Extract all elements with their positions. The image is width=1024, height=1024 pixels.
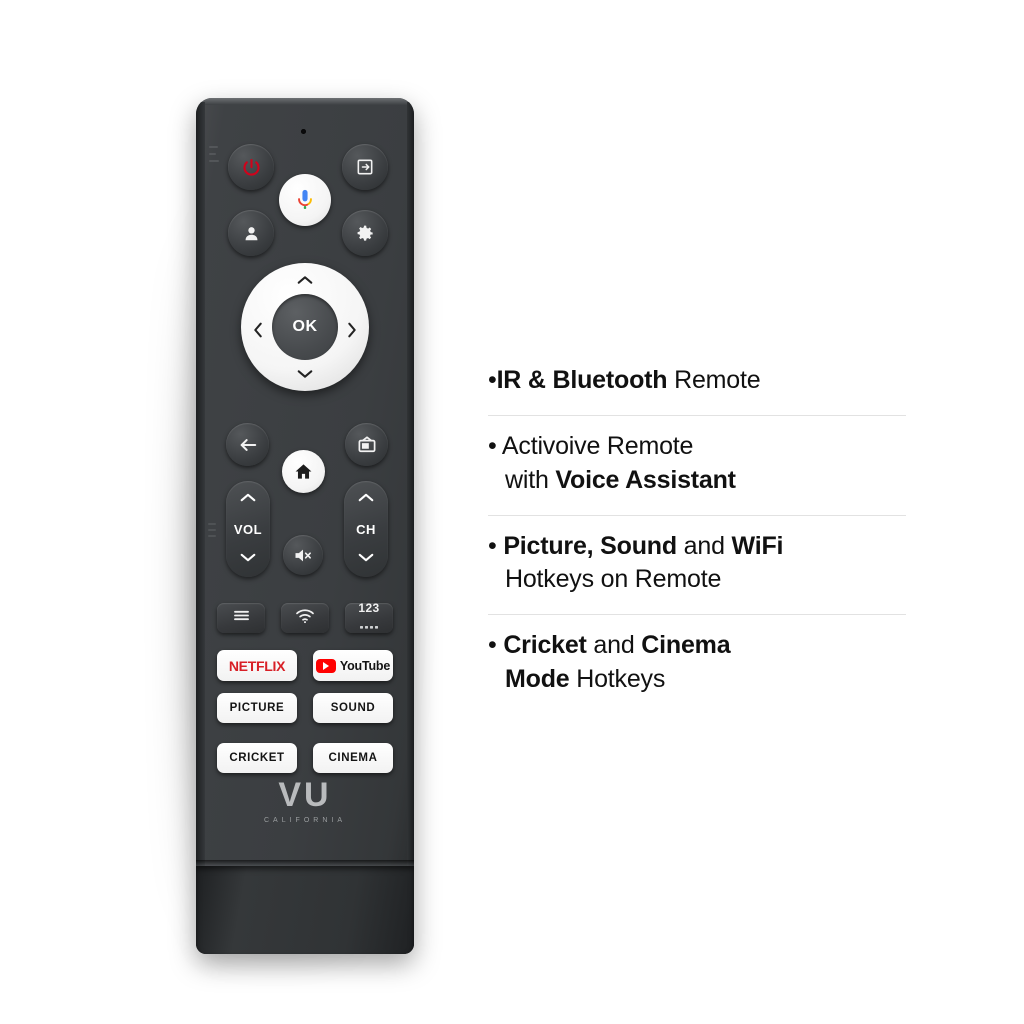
product-image-canvas: OK xyxy=(0,0,1024,1024)
volume-label: VOL xyxy=(234,522,262,537)
bullet-4: • xyxy=(488,631,497,659)
remote-right-edge xyxy=(407,102,414,954)
feature-text-3-line1: • Picture, Sound and WiFi xyxy=(488,530,908,563)
feature-item-ir-bluetooth: •IR & Bluetooth Remote xyxy=(488,350,908,415)
feature-4-mid: and xyxy=(587,631,642,659)
volume-rocker[interactable]: VOL xyxy=(226,481,270,577)
cinema-hotkey-button[interactable]: CINEMA xyxy=(313,743,393,773)
ok-button[interactable]: OK xyxy=(272,294,338,360)
volume-down-icon[interactable] xyxy=(239,550,257,568)
netflix-label: NETFLIX xyxy=(229,658,285,674)
youtube-logo: YouTube xyxy=(316,659,390,673)
channel-rocker[interactable]: CH xyxy=(344,481,388,577)
remote-left-edge xyxy=(196,102,205,954)
keypad-label: 123 xyxy=(358,601,379,615)
feature-4-bold1: Cricket xyxy=(503,631,586,659)
feature-4-bold2: Cinema xyxy=(641,631,730,659)
power-icon xyxy=(241,157,262,178)
input-source-icon xyxy=(355,157,375,177)
back-arrow-icon xyxy=(238,436,258,454)
ok-label: OK xyxy=(293,318,318,336)
feature-2-line1: Activoive Remote xyxy=(497,432,694,460)
battery-cover xyxy=(196,866,414,954)
cinema-label: CINEMA xyxy=(329,752,378,764)
brand-logo: VU CALIFORNIA xyxy=(196,778,414,824)
sound-label: SOUND xyxy=(331,702,376,714)
feature-item-cricket-cinema: • Cricket and Cinema Mode Hotkeys xyxy=(488,615,908,714)
keypad-button[interactable]: 123 xyxy=(345,603,393,633)
home-button[interactable] xyxy=(282,450,325,493)
input-source-button[interactable] xyxy=(342,144,388,190)
feature-item-hotkeys: • Picture, Sound and WiFi Hotkeys on Rem… xyxy=(488,516,908,615)
gear-icon xyxy=(356,224,375,243)
youtube-label: YouTube xyxy=(340,659,390,673)
google-assistant-button[interactable] xyxy=(279,174,331,226)
sound-hotkey-button[interactable]: SOUND xyxy=(313,693,393,723)
tv-icon xyxy=(357,435,377,454)
dpad-left[interactable] xyxy=(251,320,265,340)
profile-button[interactable] xyxy=(228,210,274,256)
home-icon xyxy=(294,462,313,481)
dpad-down[interactable] xyxy=(295,367,315,381)
channel-down-icon[interactable] xyxy=(357,550,375,568)
dpad-navigation-ring[interactable]: OK xyxy=(241,263,369,391)
feature-2-line2-bold: Voice Assistant xyxy=(555,466,735,494)
cricket-hotkey-button[interactable]: CRICKET xyxy=(217,743,297,773)
wifi-button[interactable] xyxy=(281,603,329,633)
feature-2-line2-pre: with xyxy=(505,466,555,494)
bullet-2: • xyxy=(488,432,497,460)
feature-list: •IR & Bluetooth Remote • Activoive Remot… xyxy=(488,350,908,714)
ir-marks xyxy=(209,146,225,176)
feature-item-voice-assistant: • Activoive Remote with Voice Assistant xyxy=(488,416,908,515)
picture-label: PICTURE xyxy=(230,702,285,714)
dpad-up[interactable] xyxy=(295,273,315,287)
mute-button[interactable] xyxy=(283,535,323,575)
channel-label: CH xyxy=(356,522,376,537)
volume-up-icon[interactable] xyxy=(239,490,257,508)
channel-up-icon[interactable] xyxy=(357,490,375,508)
remote-top-rim xyxy=(196,98,414,105)
bullet-3: • xyxy=(488,532,497,560)
wifi-icon xyxy=(295,608,315,629)
feature-4-line2-rest: Hotkeys xyxy=(569,665,665,693)
netflix-button[interactable]: NETFLIX xyxy=(217,650,297,681)
feature-text-4-line1: • Cricket and Cinema xyxy=(488,629,908,662)
back-button[interactable] xyxy=(226,423,269,466)
profile-icon xyxy=(242,224,261,243)
feature-3-mid: and xyxy=(677,532,732,560)
feature-text-1: •IR & Bluetooth Remote xyxy=(488,364,908,397)
side-marks xyxy=(208,523,222,541)
settings-button[interactable] xyxy=(342,210,388,256)
brand-name: VU xyxy=(196,778,414,812)
feature-3-bold1: Picture, Sound xyxy=(503,532,677,560)
picture-hotkey-button[interactable]: PICTURE xyxy=(217,693,297,723)
feature-3-bold2: WiFi xyxy=(732,532,784,560)
keypad-dots-icon xyxy=(360,617,378,635)
youtube-play-icon xyxy=(316,659,336,673)
brand-subtitle: CALIFORNIA xyxy=(196,817,414,824)
feature-4-line2-bold: Mode xyxy=(505,665,569,693)
bullet-1: • xyxy=(488,366,497,394)
hamburger-menu-icon xyxy=(233,609,250,627)
feature-text-3-line2: Hotkeys on Remote xyxy=(488,563,908,596)
menu-button[interactable] xyxy=(217,603,265,633)
youtube-button[interactable]: YouTube xyxy=(313,650,393,681)
microphone-icon xyxy=(294,188,316,212)
power-button[interactable] xyxy=(228,144,274,190)
tv-remote-control: OK xyxy=(196,98,414,954)
feature-text-2-line1: • Activoive Remote xyxy=(488,430,908,463)
dpad-right[interactable] xyxy=(345,320,359,340)
cricket-label: CRICKET xyxy=(229,752,284,764)
feature-text-4-line2: Mode Hotkeys xyxy=(488,663,908,696)
mute-icon xyxy=(293,547,313,564)
feature-text-2-line2: with Voice Assistant xyxy=(488,464,908,497)
feature-1-bold: IR & Bluetooth xyxy=(497,366,668,394)
live-tv-button[interactable] xyxy=(345,423,388,466)
feature-1-rest: Remote xyxy=(667,366,760,394)
status-led xyxy=(301,129,306,134)
